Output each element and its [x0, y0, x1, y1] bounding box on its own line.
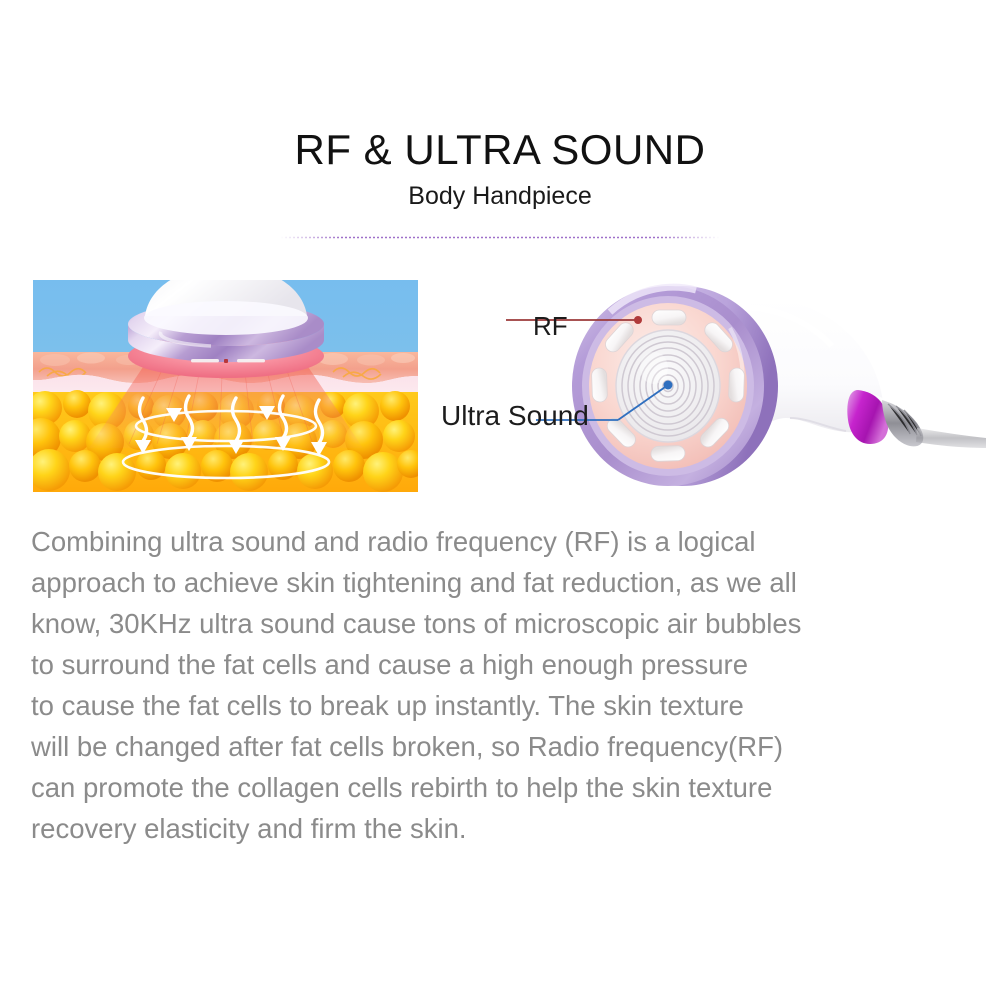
header: RF & ULTRA SOUND Body Handpiece — [0, 128, 1000, 211]
cable-assembly — [847, 390, 986, 448]
page-title: RF & ULTRA SOUND — [0, 128, 1000, 172]
paragraph-line: to cause the fat cells to break up insta… — [31, 685, 936, 726]
product-infographic-page: RF & ULTRA SOUND Body Handpiece — [0, 0, 1000, 1000]
paragraph-line: approach to achieve skin tightening and … — [31, 562, 936, 603]
cable — [916, 428, 986, 448]
rf-electrode — [591, 368, 607, 403]
skin-cross-section-illustration — [33, 280, 418, 492]
page-subtitle: Body Handpiece — [0, 183, 1000, 211]
rf-leader-dot — [634, 316, 642, 324]
rf-electrode — [652, 310, 686, 325]
callout-label-rf: RF — [533, 311, 568, 342]
rf-electrode — [651, 445, 686, 461]
paragraph-line: Combining ultra sound and radio frequenc… — [31, 521, 936, 562]
rf-electrode — [728, 368, 744, 403]
paragraph-line: can promote the collagen cells rebirth t… — [31, 767, 936, 808]
ultrasound-leader-dot — [664, 381, 673, 390]
handpiece-illustration — [430, 268, 1000, 500]
device-head — [128, 280, 324, 378]
paragraph-line: will be changed after fat cells broken, … — [31, 726, 936, 767]
description-paragraph: Combining ultra sound and radio frequenc… — [31, 521, 936, 849]
handpiece-head — [572, 286, 778, 486]
header-divider — [280, 236, 720, 240]
callout-label-ultra-sound: Ultra Sound — [441, 400, 589, 432]
paragraph-line: to surround the fat cells and cause a hi… — [31, 644, 936, 685]
dotted-rule — [280, 236, 720, 239]
paragraph-line: recovery elasticity and firm the skin. — [31, 808, 936, 849]
paragraph-line: know, 30KHz ultra sound cause tons of mi… — [31, 603, 936, 644]
